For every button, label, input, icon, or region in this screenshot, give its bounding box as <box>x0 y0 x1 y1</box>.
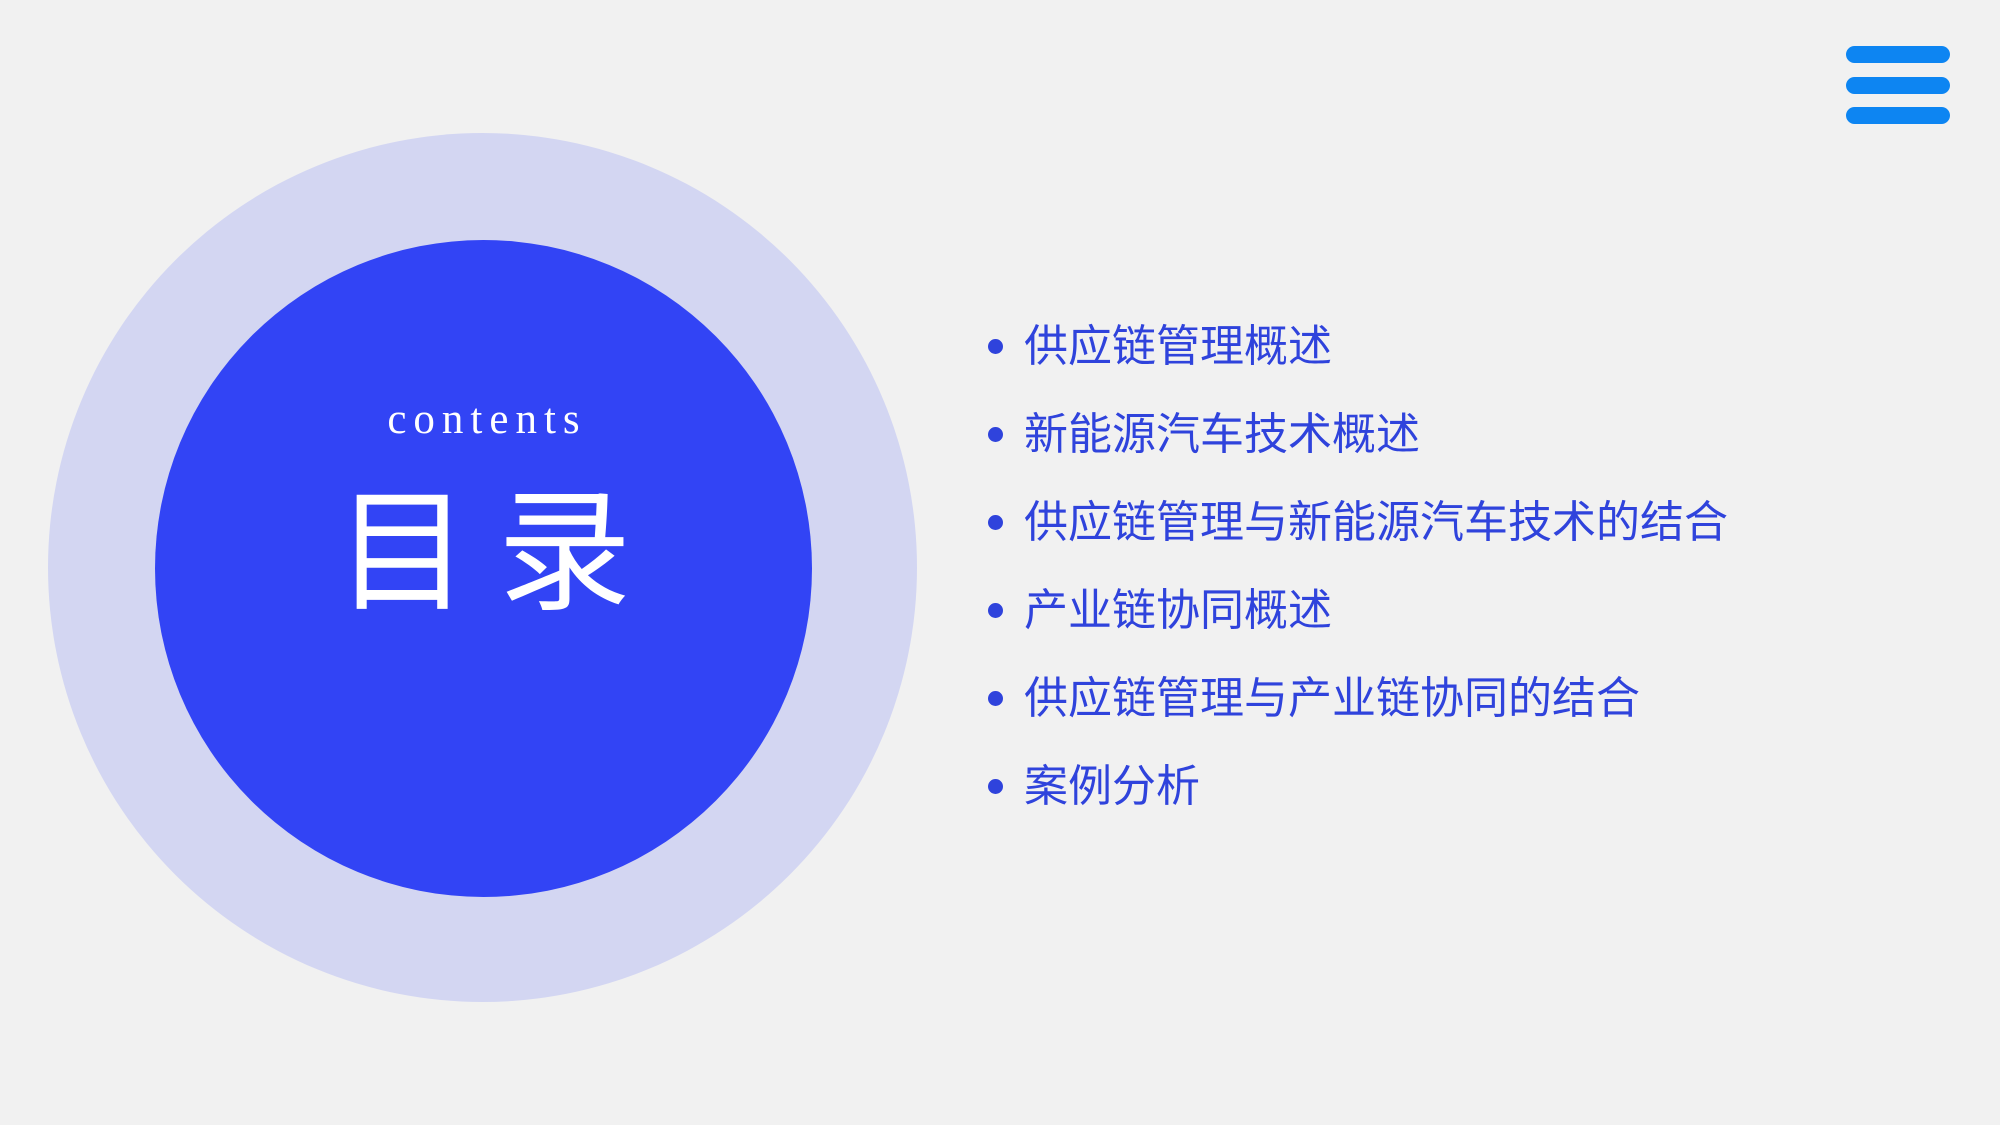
list-item[interactable]: 产业链协同概述 <box>988 566 1938 654</box>
list-item[interactable]: 案例分析 <box>988 742 1938 830</box>
bullet-dot-icon <box>988 515 1003 530</box>
list-item[interactable]: 新能源汽车技术概述 <box>988 390 1938 478</box>
bullet-dot-icon <box>988 427 1003 442</box>
bullet-dot-icon <box>988 779 1003 794</box>
list-item-label: 产业链协同概述 <box>1024 583 1332 638</box>
hamburger-bar-middle <box>1846 77 1950 94</box>
list-item-label: 供应链管理与新能源汽车技术的结合 <box>1024 495 1728 550</box>
contents-title: 目录 <box>307 477 659 631</box>
slide-canvas: contents 目录 供应链管理概述 新能源汽车技术概述 供应链管理与新能源汽… <box>0 0 2000 1125</box>
list-item-label: 案例分析 <box>1024 759 1200 814</box>
list-item[interactable]: 供应链管理与新能源汽车技术的结合 <box>988 478 1938 566</box>
bullet-dot-icon <box>988 691 1003 706</box>
list-item-label: 供应链管理概述 <box>1024 319 1332 374</box>
list-item-label: 新能源汽车技术概述 <box>1024 407 1420 462</box>
list-item[interactable]: 供应链管理与产业链协同的结合 <box>988 654 1938 742</box>
contents-badge: contents 目录 <box>155 240 812 897</box>
contents-eyebrow-label: contents <box>380 398 586 441</box>
bullet-dot-icon <box>988 603 1003 618</box>
bullet-dot-icon <box>988 339 1003 354</box>
hamburger-bar-top <box>1846 46 1950 63</box>
hamburger-menu-icon[interactable] <box>1846 46 1950 124</box>
list-item[interactable]: 供应链管理概述 <box>988 302 1938 390</box>
list-item-label: 供应链管理与产业链协同的结合 <box>1024 671 1640 726</box>
hamburger-bar-bottom <box>1846 107 1950 124</box>
table-of-contents-list: 供应链管理概述 新能源汽车技术概述 供应链管理与新能源汽车技术的结合 产业链协同… <box>988 302 1938 830</box>
